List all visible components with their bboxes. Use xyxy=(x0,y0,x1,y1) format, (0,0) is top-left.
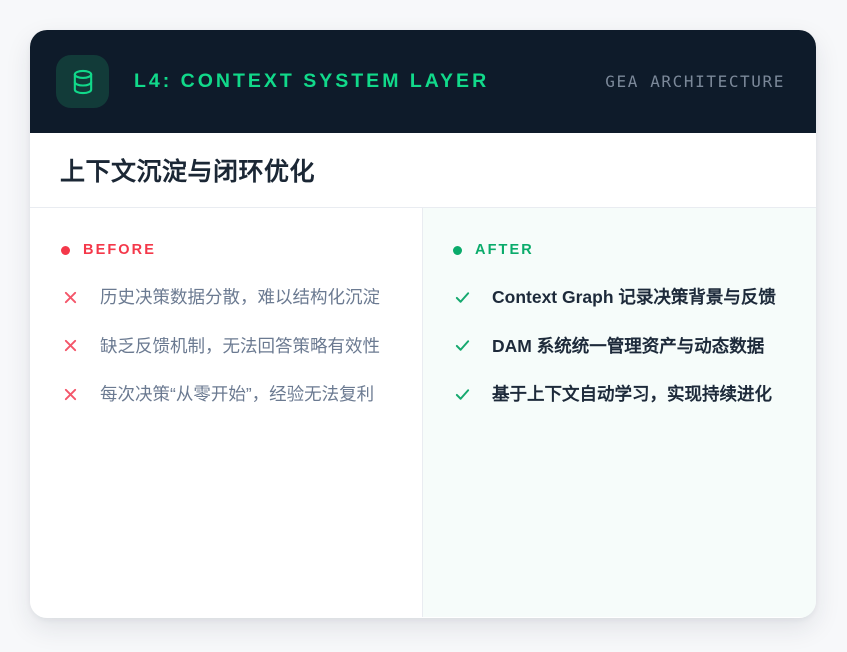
list-item-text: Context Graph 记录决策背景与反馈 xyxy=(492,284,776,311)
list-item: 缺乏反馈机制，无法回答策略有效性 xyxy=(61,333,390,360)
list-item-text: 基于上下文自动学习，实现持续进化 xyxy=(492,381,772,408)
header-left-group: L4: CONTEXT SYSTEM LAYER xyxy=(56,55,605,108)
cross-icon xyxy=(61,288,79,306)
list-item: 每次决策“从零开始”，经验无法复利 xyxy=(61,381,390,408)
cross-icon xyxy=(61,337,79,355)
card-header: L4: CONTEXT SYSTEM LAYER GEA ARCHITECTUR… xyxy=(30,30,816,133)
list-item-text: 每次决策“从零开始”，经验无法复利 xyxy=(100,381,374,408)
after-item-list: Context Graph 记录决策背景与反馈 DAM 系统统一管理资产与动态数… xyxy=(453,284,788,408)
check-icon xyxy=(453,288,471,306)
bullet-dot-icon xyxy=(453,246,462,255)
list-item-text: DAM 系统统一管理资产与动态数据 xyxy=(492,333,764,360)
list-item-text: 缺乏反馈机制，无法回答策略有效性 xyxy=(100,333,380,360)
page-background: L4: CONTEXT SYSTEM LAYER GEA ARCHITECTUR… xyxy=(0,0,847,652)
before-label-group: BEFORE xyxy=(61,242,390,258)
check-icon xyxy=(453,337,471,355)
before-column: BEFORE 历史决策数据分散，难以结构化沉淀 xyxy=(30,208,423,617)
after-column: AFTER Context Graph 记录决策背景与反馈 xyxy=(423,208,816,617)
header-meta-label: GEA ARCHITECTURE xyxy=(605,72,785,91)
header-title: L4: CONTEXT SYSTEM LAYER xyxy=(134,70,489,93)
list-item-text: 历史决策数据分散，难以结构化沉淀 xyxy=(100,284,380,311)
bullet-dot-icon xyxy=(61,246,70,255)
database-icon xyxy=(56,55,109,108)
gea-architecture-card: L4: CONTEXT SYSTEM LAYER GEA ARCHITECTUR… xyxy=(30,30,816,618)
before-label: BEFORE xyxy=(83,242,156,258)
after-label-group: AFTER xyxy=(453,242,788,258)
page-title: 上下文沉淀与闭环优化 xyxy=(60,152,315,188)
list-item: Context Graph 记录决策背景与反馈 xyxy=(453,284,788,311)
before-item-list: 历史决策数据分散，难以结构化沉淀 缺乏反馈机制，无法回答策略有效性 xyxy=(61,284,390,408)
list-item: 基于上下文自动学习，实现持续进化 xyxy=(453,381,788,408)
list-item: DAM 系统统一管理资产与动态数据 xyxy=(453,333,788,360)
after-label: AFTER xyxy=(475,242,534,258)
check-icon xyxy=(453,385,471,403)
card-title-row: 上下文沉淀与闭环优化 xyxy=(30,133,816,208)
list-item: 历史决策数据分散，难以结构化沉淀 xyxy=(61,284,390,311)
comparison-columns: BEFORE 历史决策数据分散，难以结构化沉淀 xyxy=(30,208,816,617)
cross-icon xyxy=(61,385,79,403)
